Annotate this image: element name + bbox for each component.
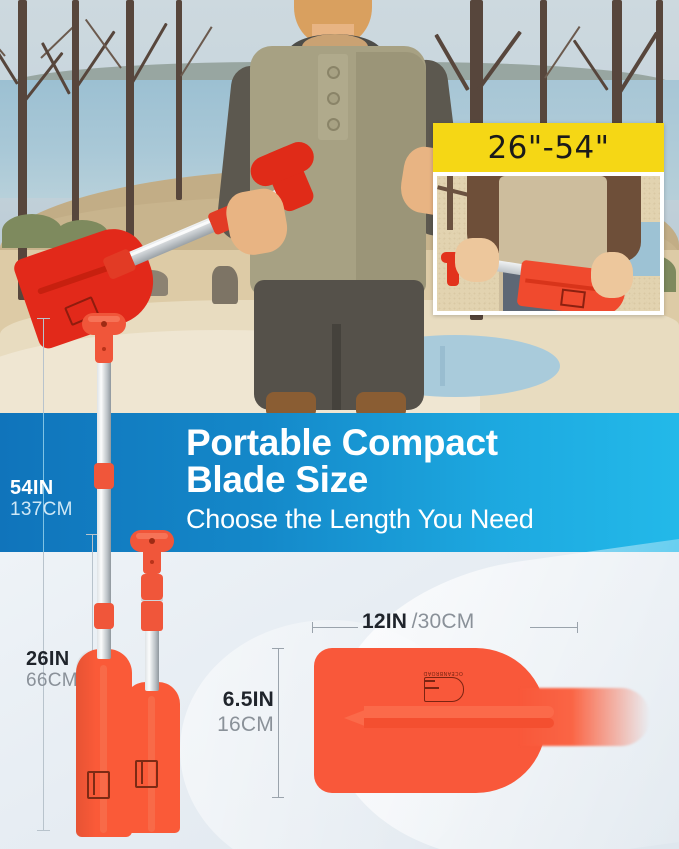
measure-26in-inches: 26IN — [26, 648, 78, 670]
oceanbroad-logo-bar — [424, 687, 439, 689]
paddle-t-grip-pin — [101, 321, 107, 327]
measure-cap-top-54in — [37, 318, 50, 319]
dim-line-right-12in — [530, 627, 578, 628]
measure-54in-inches: 54IN — [10, 478, 73, 499]
paddle-grip-pin — [150, 560, 154, 564]
headline-line-2: Blade Size — [186, 461, 656, 498]
paddle-blade-rib — [100, 665, 107, 833]
paddle-shaft — [145, 629, 159, 691]
measure-cap-bottom-54in — [37, 830, 50, 831]
paddle-telescope-collar-lower — [141, 601, 163, 631]
oceanbroad-logo-text: OCEANBROAD — [418, 668, 468, 676]
boot-right — [356, 392, 406, 415]
paddle-blade-shadow — [76, 649, 96, 837]
product-infographic: 26"-54" Portable Compact Blade Size Choo… — [0, 0, 679, 849]
measure-54in-cm: 137CM — [10, 499, 73, 521]
dim-line-left-12in — [312, 627, 358, 628]
paddle-telescope-collar-upper — [141, 574, 163, 600]
inset-left-hand — [455, 238, 499, 282]
dim-6point5in-inches: 6.5IN — [212, 688, 274, 712]
shirt-button — [327, 66, 340, 79]
inset-right-hand — [591, 252, 633, 298]
oceanbroad-logo-bar — [424, 680, 435, 682]
boot-left — [266, 392, 316, 415]
headline-subtitle: Choose the Length You Need — [186, 504, 656, 534]
blade-logo-badge-line — [135, 760, 143, 784]
inset-size-label-text: 26"-54" — [487, 130, 609, 166]
dim-label-6point5in: 6.5IN 16CM — [212, 688, 274, 737]
headline-line-1: Portable Compact — [186, 424, 656, 461]
measure-line-54in — [43, 318, 44, 830]
shorts-split — [332, 324, 341, 410]
measure-26in-cm: 66CM — [26, 670, 78, 692]
paddle-collapsed-26in — [122, 530, 180, 833]
dim-cap-left-12in — [312, 622, 313, 633]
dim-12in-inches: 12IN — [362, 610, 407, 633]
paddle-grip-pin — [102, 347, 106, 351]
paddle-lock-collar — [94, 463, 114, 489]
blade-detail-illustration: OCEANBROAD — [300, 640, 679, 810]
dim-6point5in-cm: 16CM — [212, 712, 274, 737]
tree-trunk — [18, 0, 27, 300]
measure-label-54in: 54IN 137CM — [10, 478, 73, 521]
measure-label-26in: 26IN 66CM — [26, 648, 78, 692]
blade-detail-rib-lower — [364, 718, 554, 728]
dim-label-12in: 12IN /30CM — [362, 610, 474, 634]
inset-photo — [437, 176, 660, 311]
shirt-button — [327, 92, 340, 105]
dim-cap-top-6point5in — [272, 648, 284, 649]
dim-cap-right-12in — [577, 622, 578, 633]
dim-12in-cm: /30CM — [412, 610, 475, 633]
inset-tree — [447, 176, 453, 230]
inset-blade-logo — [560, 289, 586, 309]
headline-text-block: Portable Compact Blade Size Choose the L… — [186, 424, 656, 534]
oceanbroad-logo: OCEANBROAD — [418, 668, 468, 702]
paddle-lock-collar — [94, 603, 114, 629]
dim-cap-bottom-6point5in — [272, 797, 284, 798]
inset-size-label: 26"-54" — [433, 123, 664, 172]
blade-logo-badge-line — [87, 771, 95, 795]
paddle-t-grip-pin — [149, 538, 155, 544]
dim-line-6point5in — [278, 648, 279, 798]
blade-detail-rib-upper — [364, 706, 554, 718]
